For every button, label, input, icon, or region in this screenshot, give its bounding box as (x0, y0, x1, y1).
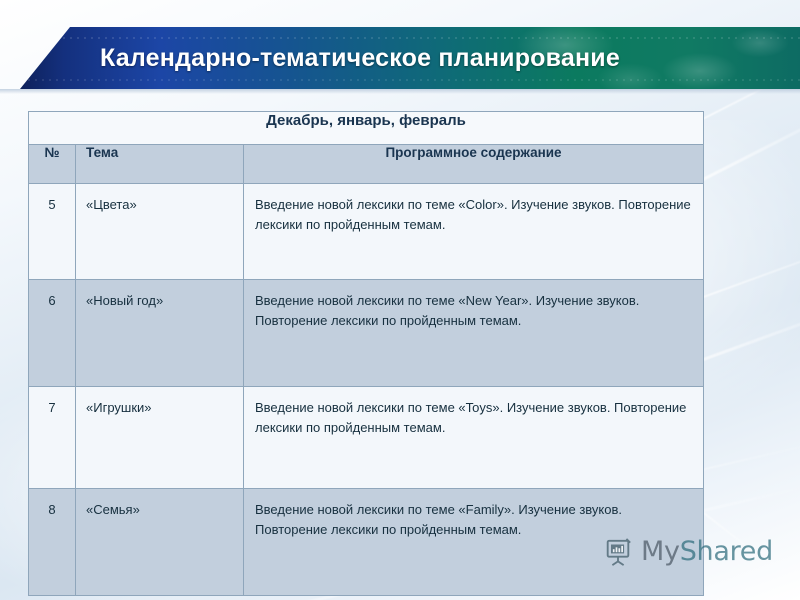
slide-title: Календарно-тематическое планирование (100, 30, 620, 86)
row-number: 5 (29, 184, 76, 280)
planning-table: Декабрь, январь, февраль № Тема Программ… (28, 111, 704, 596)
table-header-row: № Тема Программное содержание (29, 145, 704, 184)
slide-canvas: Календарно-тематическое планирование Дек… (0, 0, 800, 600)
row-theme: «Новый год» (76, 280, 244, 387)
watermark-text: MyShared (641, 536, 773, 567)
planning-table-container: Декабрь, январь, февраль № Тема Программ… (28, 111, 703, 596)
row-number: 8 (29, 489, 76, 596)
table-row: 5 «Цвета» Введение новой лексики по теме… (29, 184, 704, 280)
row-number: 7 (29, 387, 76, 489)
column-header-theme: Тема (76, 145, 244, 184)
watermark-text-my: My (641, 536, 680, 567)
row-content: Введение новой лексики по теме «New Year… (244, 280, 704, 387)
table-row: 7 «Игрушки» Введение новой лексики по те… (29, 387, 704, 489)
row-content: Введение новой лексики по теме «Toys». И… (244, 387, 704, 489)
table-caption: Декабрь, январь, февраль (29, 112, 704, 145)
column-header-number: № (29, 145, 76, 184)
presentation-board-icon (603, 537, 633, 567)
row-theme: «Игрушки» (76, 387, 244, 489)
row-number: 6 (29, 280, 76, 387)
watermark-text-shared: Shared (680, 536, 773, 567)
column-header-content: Программное содержание (244, 145, 704, 184)
banner-underline (0, 89, 800, 94)
row-content: Введение новой лексики по теме «Color». … (244, 184, 704, 280)
row-theme: «Семья» (76, 489, 244, 596)
table-caption-row: Декабрь, январь, февраль (29, 112, 704, 145)
table-row: 6 «Новый год» Введение новой лексики по … (29, 280, 704, 387)
myshared-watermark: MyShared (603, 536, 773, 567)
row-theme: «Цвета» (76, 184, 244, 280)
